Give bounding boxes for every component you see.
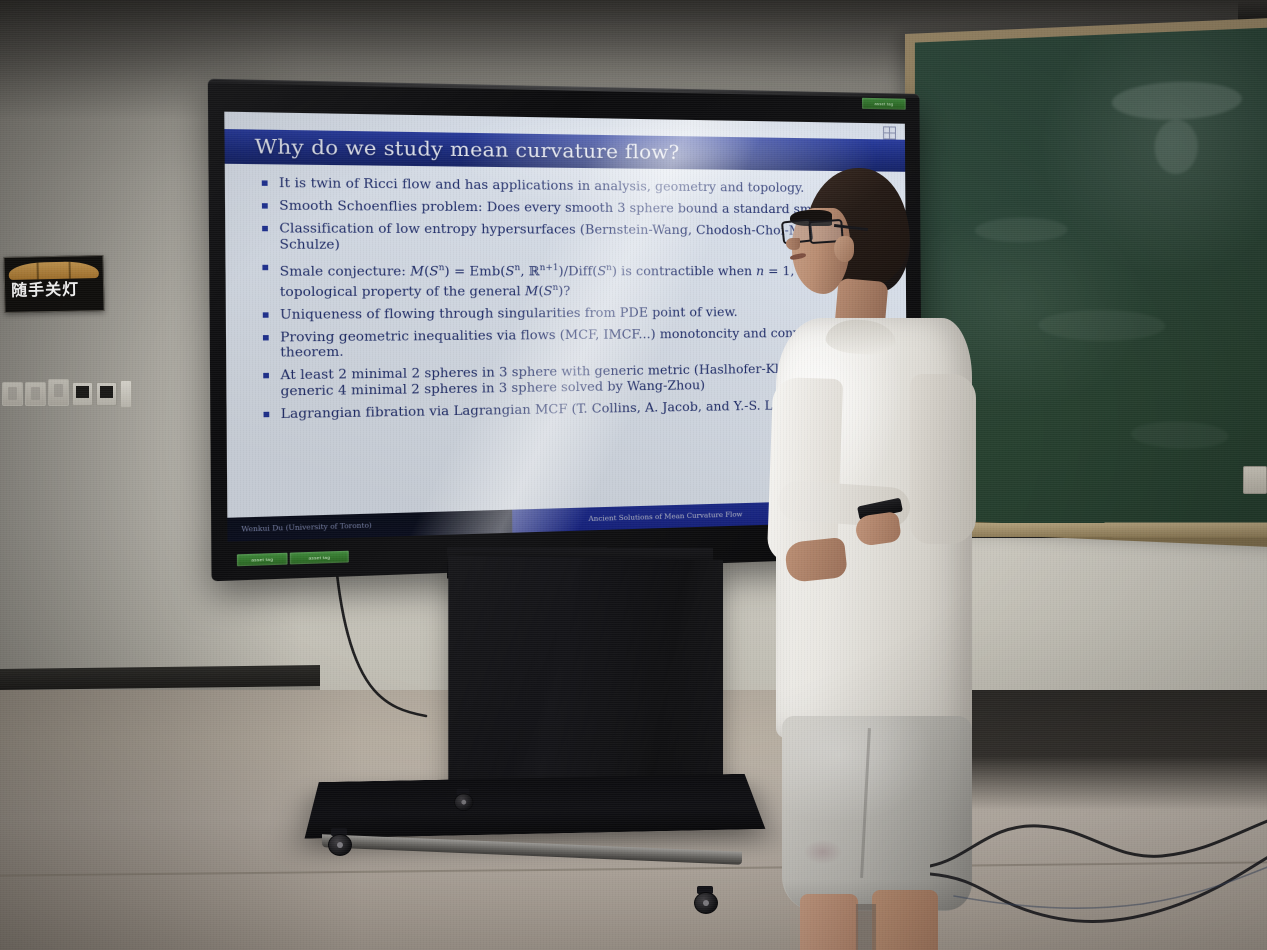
sticker-text-bl2: asset tag	[290, 551, 349, 565]
forearm	[784, 537, 848, 583]
sleeve-right	[910, 374, 976, 544]
sticker-text-bl: asset tag	[237, 553, 288, 567]
wall-sign-turn-off-lights: 随手关灯	[3, 255, 104, 313]
sticker-text-tr: asset tag	[862, 98, 906, 110]
stand-caster-left	[328, 828, 350, 854]
leg-left	[800, 894, 858, 950]
display-asset-sticker-bottom-left-2: asset tag	[290, 551, 349, 565]
display-stand-base	[305, 774, 766, 839]
nose	[786, 238, 800, 250]
photo-scene: 随手关灯 asset tag asset tag asset tag	[0, 0, 1267, 950]
switch-plate-5[interactable]	[96, 382, 117, 406]
beamer-navigation-icon[interactable]	[883, 126, 896, 139]
light-switch-row[interactable]	[0, 382, 140, 416]
leg-gap-shadow	[856, 904, 876, 950]
sleeve-left	[767, 377, 843, 564]
stand-column-sheen	[448, 556, 723, 810]
sign-roof-graphic	[9, 261, 99, 280]
slide-title: Why do we study mean curvature flow?	[224, 134, 679, 164]
stand-caster-right	[694, 886, 716, 912]
display-stand-column	[448, 556, 723, 810]
shorts-print-logo	[804, 840, 842, 864]
wall-power-socket[interactable]	[1243, 466, 1267, 494]
switch-plate-6[interactable]	[120, 380, 132, 408]
slide-title-bar: Why do we study mean curvature flow?	[224, 129, 905, 172]
glasses	[782, 220, 844, 240]
ear	[834, 236, 854, 262]
wall-sign-label: 随手关灯	[11, 281, 81, 298]
stand-caster-rear	[454, 789, 472, 810]
switch-plate-1[interactable]	[2, 382, 23, 406]
leg-right	[872, 890, 938, 950]
switch-plate-4[interactable]	[72, 382, 93, 406]
switch-plate-3[interactable]	[48, 379, 69, 406]
display-asset-sticker-bottom-left: asset tag	[237, 553, 288, 567]
floor-cables	[930, 800, 1267, 950]
switch-plate-2[interactable]	[25, 382, 46, 406]
floor-shadow-left	[0, 690, 360, 950]
display-asset-sticker-top-right: asset tag	[862, 98, 906, 110]
